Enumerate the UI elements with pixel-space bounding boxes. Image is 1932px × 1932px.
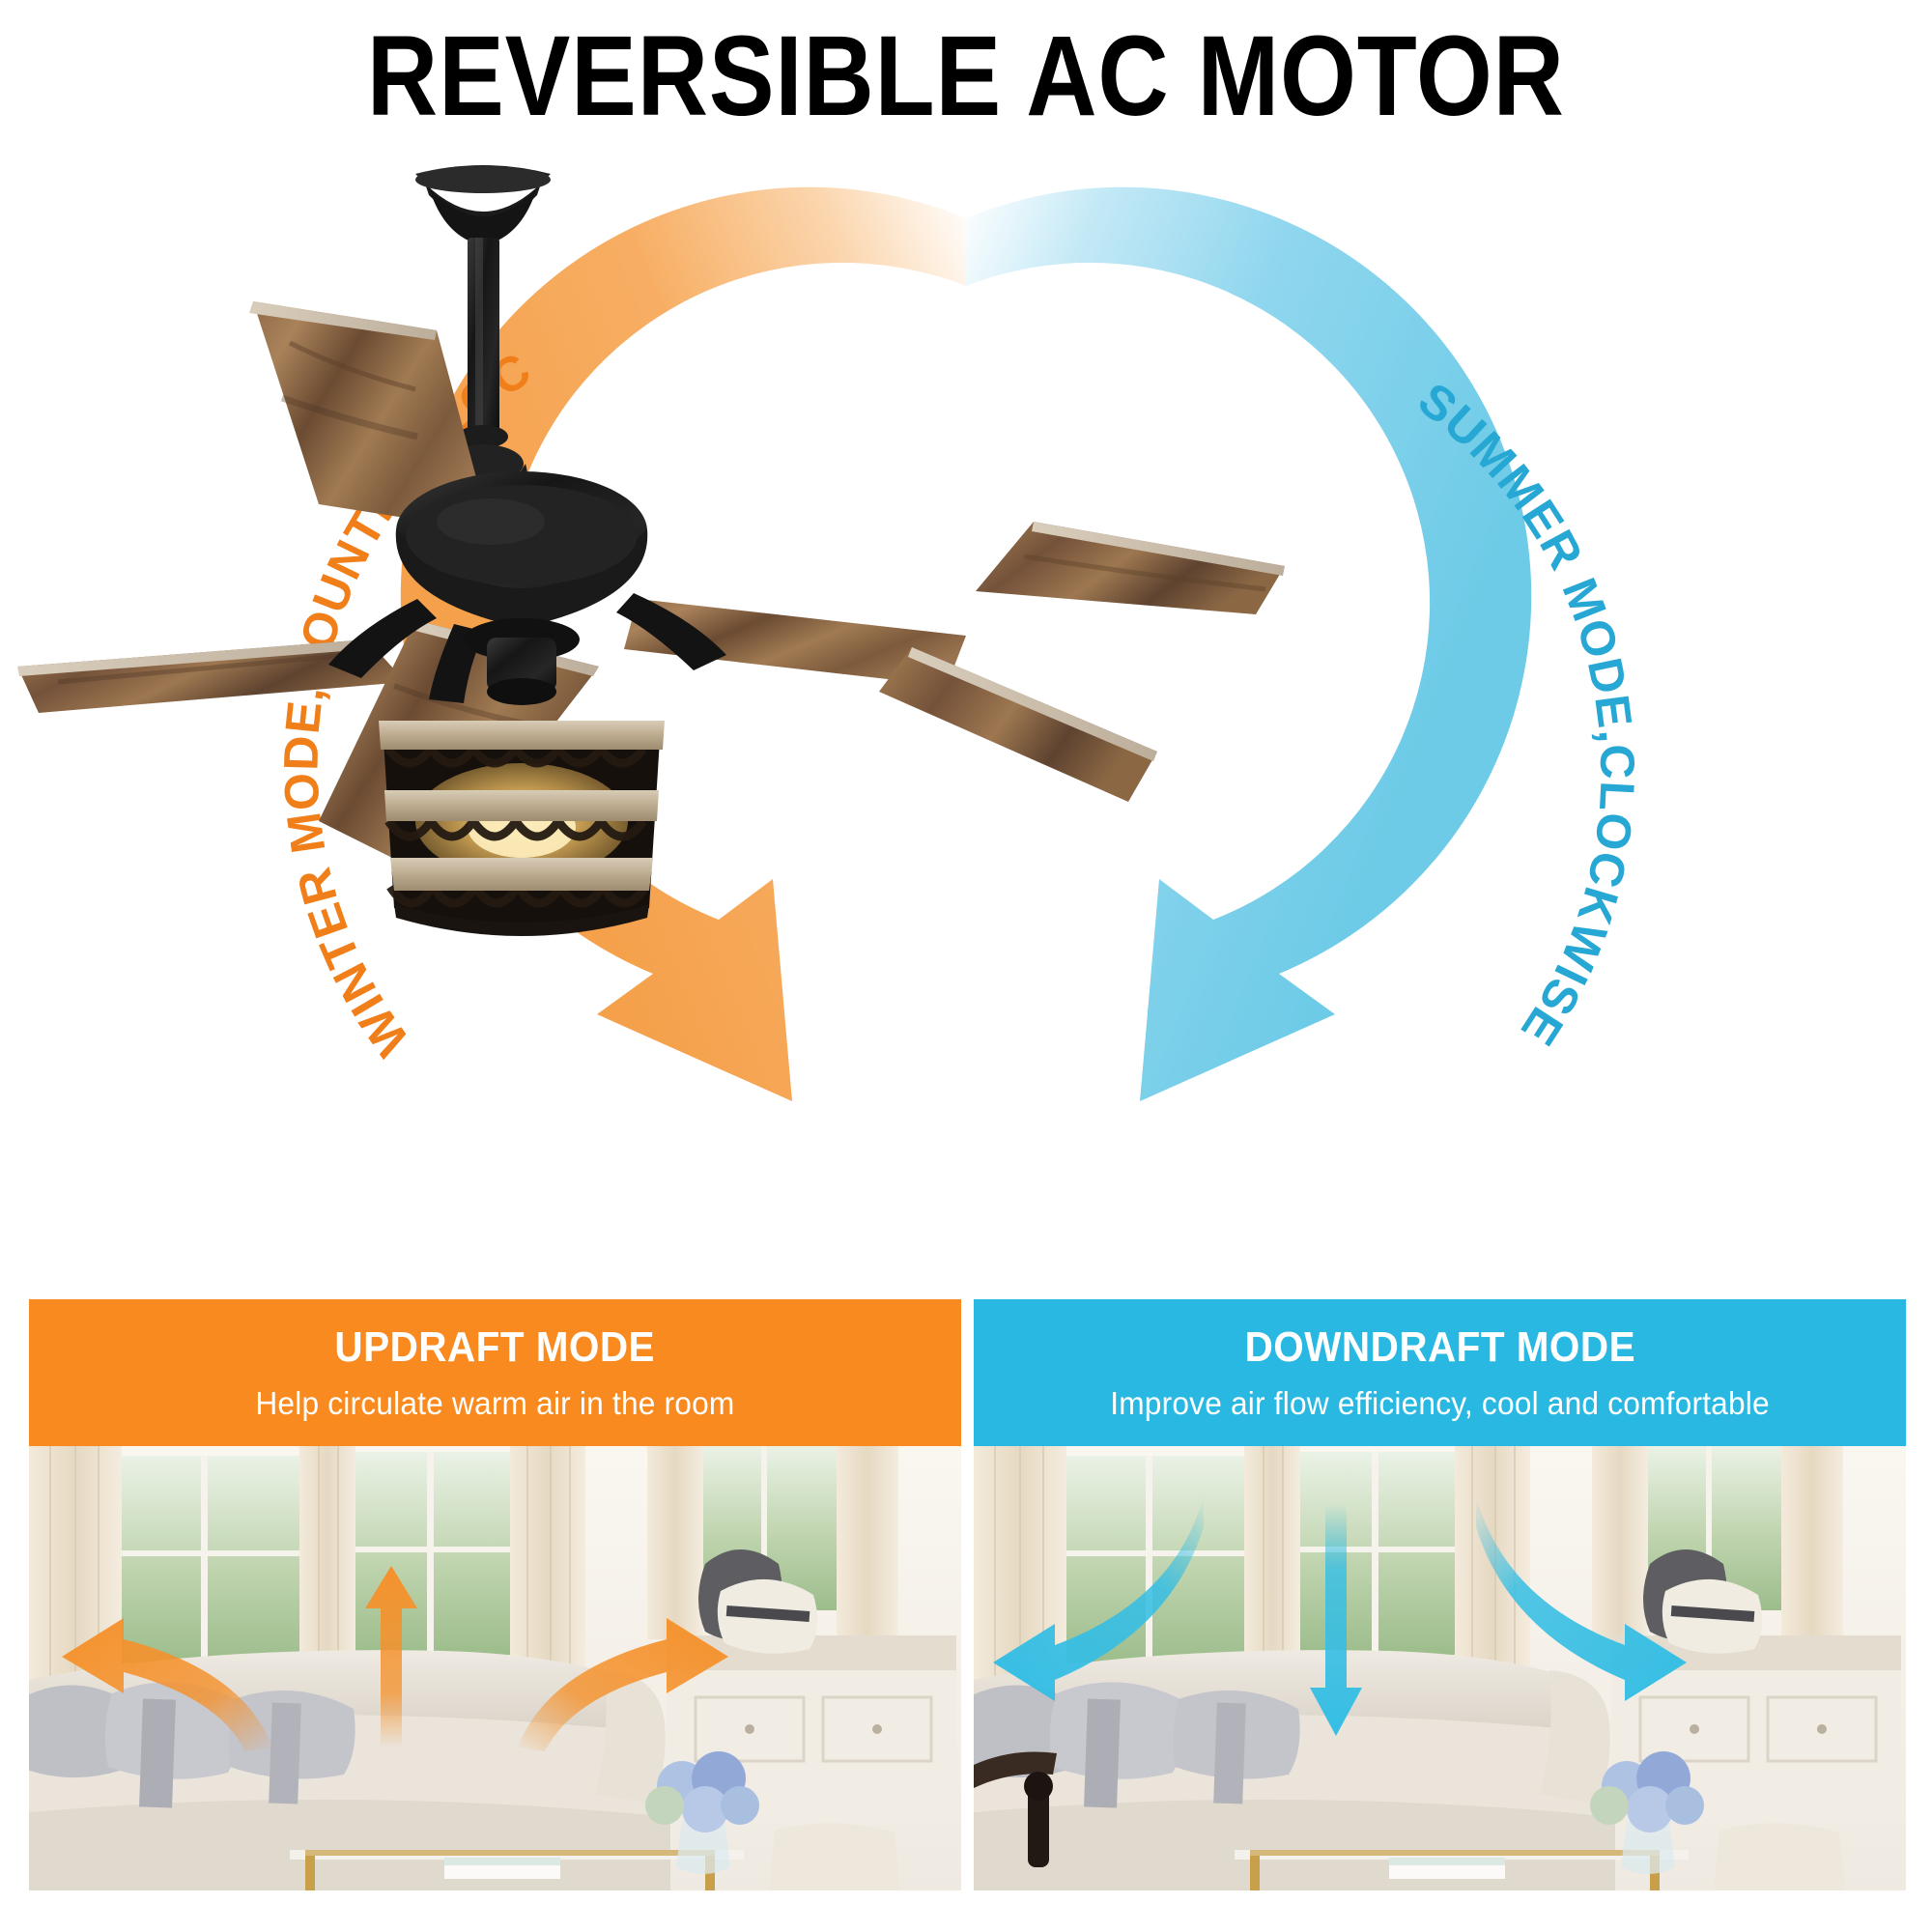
downdraft-title: DOWNDRAFT MODE xyxy=(1244,1323,1634,1372)
page-title: REVERSIBLE AC MOTOR xyxy=(367,17,1565,137)
panel-downdraft: DOWNDRAFT MODE Improve air flow efficien… xyxy=(974,1299,1906,1890)
updraft-room-photo xyxy=(29,1446,961,1890)
summer-mode-arc xyxy=(966,187,1531,1101)
updraft-title: UPDRAFT MODE xyxy=(335,1323,656,1372)
title-bar: REVERSIBLE AC MOTOR xyxy=(0,17,1932,137)
updraft-header: UPDRAFT MODE Help circulate warm air in … xyxy=(29,1299,961,1446)
downdraft-header: DOWNDRAFT MODE Improve air flow efficien… xyxy=(974,1299,1906,1446)
reversible-motor-diagram: WINTER MODE,COUNTERCLOCKWISE SUMMER MODE… xyxy=(0,145,1932,1256)
downdraft-subtitle: Improve air flow efficiency, cool and co… xyxy=(1110,1385,1770,1422)
winter-mode-arc xyxy=(401,187,966,1101)
updraft-subtitle: Help circulate warm air in the room xyxy=(255,1385,734,1422)
panel-updraft: UPDRAFT MODE Help circulate warm air in … xyxy=(29,1299,961,1890)
rotation-arcs-svg: WINTER MODE,COUNTERCLOCKWISE SUMMER MODE… xyxy=(0,145,1932,1256)
downdraft-room-photo xyxy=(974,1446,1906,1890)
